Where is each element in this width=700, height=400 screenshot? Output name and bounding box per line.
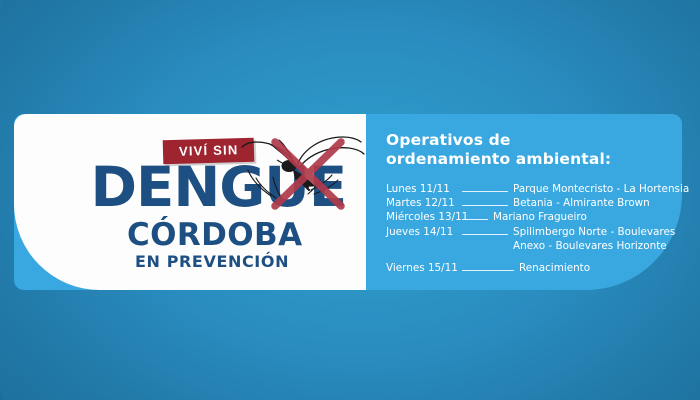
schedule-date: Lunes 11/11 <box>386 182 460 196</box>
schedule-row: Martes 12/11Betania - Almirante Brown <box>386 196 674 210</box>
schedule-spacer <box>386 253 674 261</box>
panel-heading-line2: ordenamiento ambiental: <box>386 150 611 169</box>
schedule-location: Renacimiento <box>519 261 590 275</box>
mosquito-crossed-out-icon <box>237 128 369 218</box>
schedule-date: Martes 12/11 <box>386 196 460 210</box>
schedule-location: Mariano Fragueiro <box>493 210 587 224</box>
schedule-connector-line <box>462 234 508 235</box>
schedule-row: Viernes 15/11Renacimiento <box>386 261 674 275</box>
schedule-row: Lunes 11/11Parque Montecristo - La Horte… <box>386 182 674 196</box>
schedule-location: Anexo - Boulevares Horizonte <box>513 239 667 253</box>
schedule-row: Jueves 14/11Spilimbergo Norte - Boulevar… <box>386 225 674 239</box>
panel-heading-line1: Operativos de <box>386 131 611 150</box>
schedule-row: Anexo - Boulevares Horizonte <box>386 239 674 253</box>
schedule-date: Viernes 15/11 <box>386 261 460 275</box>
schedule-connector-line <box>462 270 514 271</box>
schedule-location: Betania - Almirante Brown <box>513 196 650 210</box>
schedule-connector-line <box>462 219 488 220</box>
schedule-location: Spilimbergo Norte - Boulevares <box>513 225 675 239</box>
panel-heading: Operativos de ordenamiento ambiental: <box>386 131 611 169</box>
schedule-date: Miércoles 13/11 <box>386 210 460 224</box>
schedule-connector-line <box>462 205 508 206</box>
schedule-connector-line <box>462 191 508 192</box>
brand-lockup: VIVÍ SIN DENGUE CÓRDOBA EN PREVENCIÓN <box>32 130 362 280</box>
schedule-list: Lunes 11/11Parque Montecristo - La Horte… <box>386 182 674 275</box>
schedule-date: Jueves 14/11 <box>386 225 460 239</box>
dengue-prevention-banner: VIVÍ SIN DENGUE CÓRDOBA EN PREVENCIÓN <box>14 114 682 290</box>
cordoba-subtitle: CÓRDOBA <box>127 220 302 251</box>
en-prevencion-tagline: EN PREVENCIÓN <box>135 254 289 270</box>
schedule-row: Miércoles 13/11Mariano Fragueiro <box>386 210 674 224</box>
schedule-location: Parque Montecristo - La Hortensia <box>513 182 689 196</box>
